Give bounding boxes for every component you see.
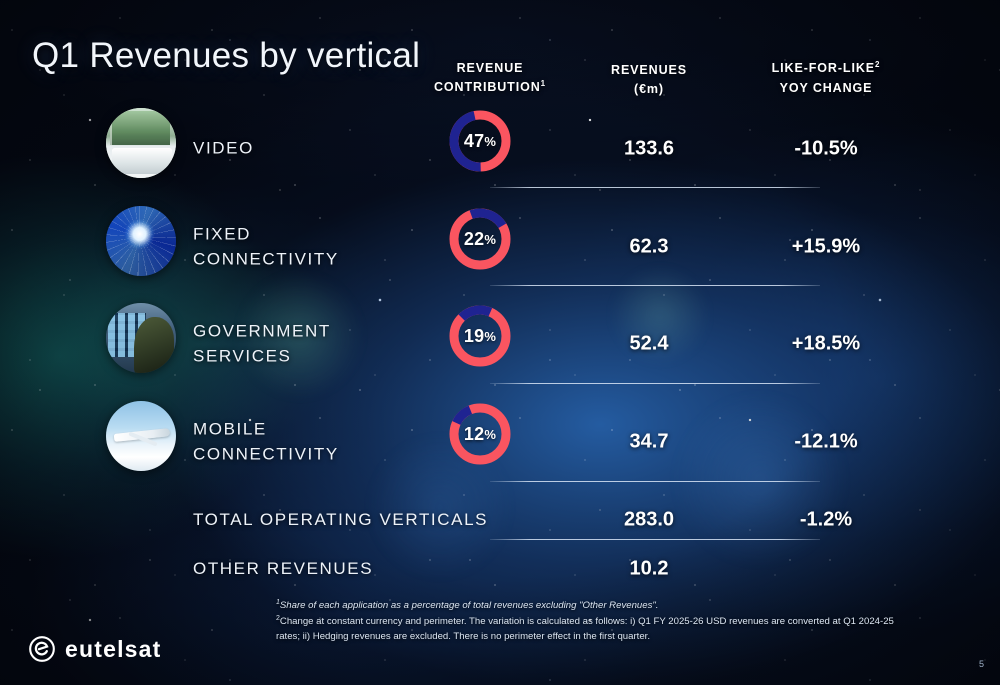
- donut-svg: [447, 108, 513, 174]
- footnote-ref-2: 2: [875, 60, 880, 69]
- row-divider: [490, 187, 820, 188]
- fixed-connectivity-thumbnail: [106, 206, 180, 286]
- total-row-operating-verticals: TOTAL OPERATING VERTICALS 283.0 -1.2%: [0, 500, 1000, 540]
- column-header-like-for-like: LIKE-FOR-LIKE2 YOY CHANGE: [740, 59, 912, 98]
- donut-svg: [447, 401, 513, 467]
- table-row: FIXED CONNECTIVITY 22% 62.3 +15.9%: [0, 198, 1000, 296]
- row-label-line2: SERVICES: [193, 346, 291, 365]
- page-title: Q1 Revenues by vertical: [32, 36, 420, 76]
- total-revenue: 10.2: [566, 558, 732, 581]
- donut-chart-government-services: 19%: [447, 303, 513, 369]
- government-services-thumbnail: [106, 303, 180, 383]
- header-lfl-line1: LIKE-FOR-LIKE: [772, 61, 875, 75]
- row-label-line1: MOBILE: [193, 419, 267, 438]
- total-label: OTHER REVENUES: [193, 559, 373, 579]
- donut-chart-fixed-connectivity: 22%: [447, 206, 513, 272]
- column-header-revenue-contribution: REVENUE CONTRIBUTION1: [400, 59, 580, 98]
- cell-revenue-mobile-connectivity: 34.7: [566, 431, 732, 454]
- header-lfl-line2: YOY CHANGE: [780, 81, 873, 95]
- footnote-1: 1Share of each application as a percenta…: [276, 598, 916, 614]
- thumbnail-tail: [150, 455, 172, 479]
- eutelsat-wordmark: eutelsat: [65, 636, 162, 663]
- header-contribution-line2: CONTRIBUTION: [434, 81, 541, 95]
- mobile-connectivity-thumbnail: [106, 401, 180, 481]
- row-label-line1: FIXED: [193, 224, 251, 243]
- cell-revenue-video: 133.6: [566, 138, 732, 161]
- row-label-government-services: GOVERNMENT SERVICES: [193, 319, 331, 368]
- row-divider: [490, 481, 820, 482]
- row-label-line2: CONNECTIVITY: [193, 249, 339, 268]
- row-label-line1: VIDEO: [193, 139, 254, 158]
- thumbnail-tail: [150, 357, 172, 381]
- donut-svg: [447, 206, 513, 272]
- cell-revenue-fixed-connectivity: 62.3: [566, 236, 732, 259]
- total-revenue: 283.0: [566, 509, 732, 532]
- cell-lfl-government-services: +18.5%: [740, 333, 912, 356]
- header-contribution-line1: REVENUE: [457, 61, 524, 75]
- slide-root: Q1 Revenues by vertical REVENUE CONTRIBU…: [0, 0, 1000, 685]
- eutelsat-logo: eutelsat: [28, 635, 162, 663]
- row-label-line2: CONNECTIVITY: [193, 444, 339, 463]
- thumbnail-tail: [150, 260, 172, 284]
- row-label-line1: GOVERNMENT: [193, 321, 331, 340]
- cell-lfl-mobile-connectivity: -12.1%: [740, 431, 912, 454]
- footnote-1-text: Share of each application as a percentag…: [280, 600, 659, 611]
- row-divider: [490, 383, 820, 384]
- header-revenues-unit: (€m): [634, 82, 664, 96]
- table-row: VIDEO 47% 133.6 -10.5%: [0, 100, 1000, 198]
- cell-lfl-video: -10.5%: [740, 138, 912, 161]
- cell-lfl-fixed-connectivity: +15.9%: [740, 236, 912, 259]
- page-number: 5: [979, 659, 984, 669]
- table-row: GOVERNMENT SERVICES 19% 52.4 +18.5%: [0, 295, 1000, 393]
- row-label-video: VIDEO: [193, 137, 254, 162]
- row-divider: [490, 285, 820, 286]
- row-label-fixed-connectivity: FIXED CONNECTIVITY: [193, 222, 339, 271]
- table-row: MOBILE CONNECTIVITY 12% 34.7 -12.1%: [0, 393, 1000, 491]
- row-label-mobile-connectivity: MOBILE CONNECTIVITY: [193, 417, 339, 466]
- donut-chart-mobile-connectivity: 12%: [447, 401, 513, 467]
- donut-chart-video: 47%: [447, 108, 513, 174]
- footnotes: 1Share of each application as a percenta…: [276, 598, 916, 645]
- header-revenues-line1: REVENUES: [611, 63, 687, 77]
- thumbnail-tail: [150, 162, 172, 186]
- donut-svg: [447, 303, 513, 369]
- total-lfl: -1.2%: [740, 509, 912, 532]
- footnote-2: 2Change at constant currency and perimet…: [276, 614, 916, 645]
- video-thumbnail: [106, 108, 180, 188]
- cell-revenue-government-services: 52.4: [566, 333, 732, 356]
- footnote-2-text: Change at constant currency and perimete…: [276, 616, 894, 642]
- total-row-other-revenues: OTHER REVENUES 10.2: [0, 549, 1000, 589]
- eutelsat-logo-icon: [28, 635, 56, 663]
- footnote-ref-1: 1: [541, 79, 546, 88]
- column-header-revenues: REVENUES (€m): [566, 61, 732, 100]
- total-label: TOTAL OPERATING VERTICALS: [193, 510, 488, 530]
